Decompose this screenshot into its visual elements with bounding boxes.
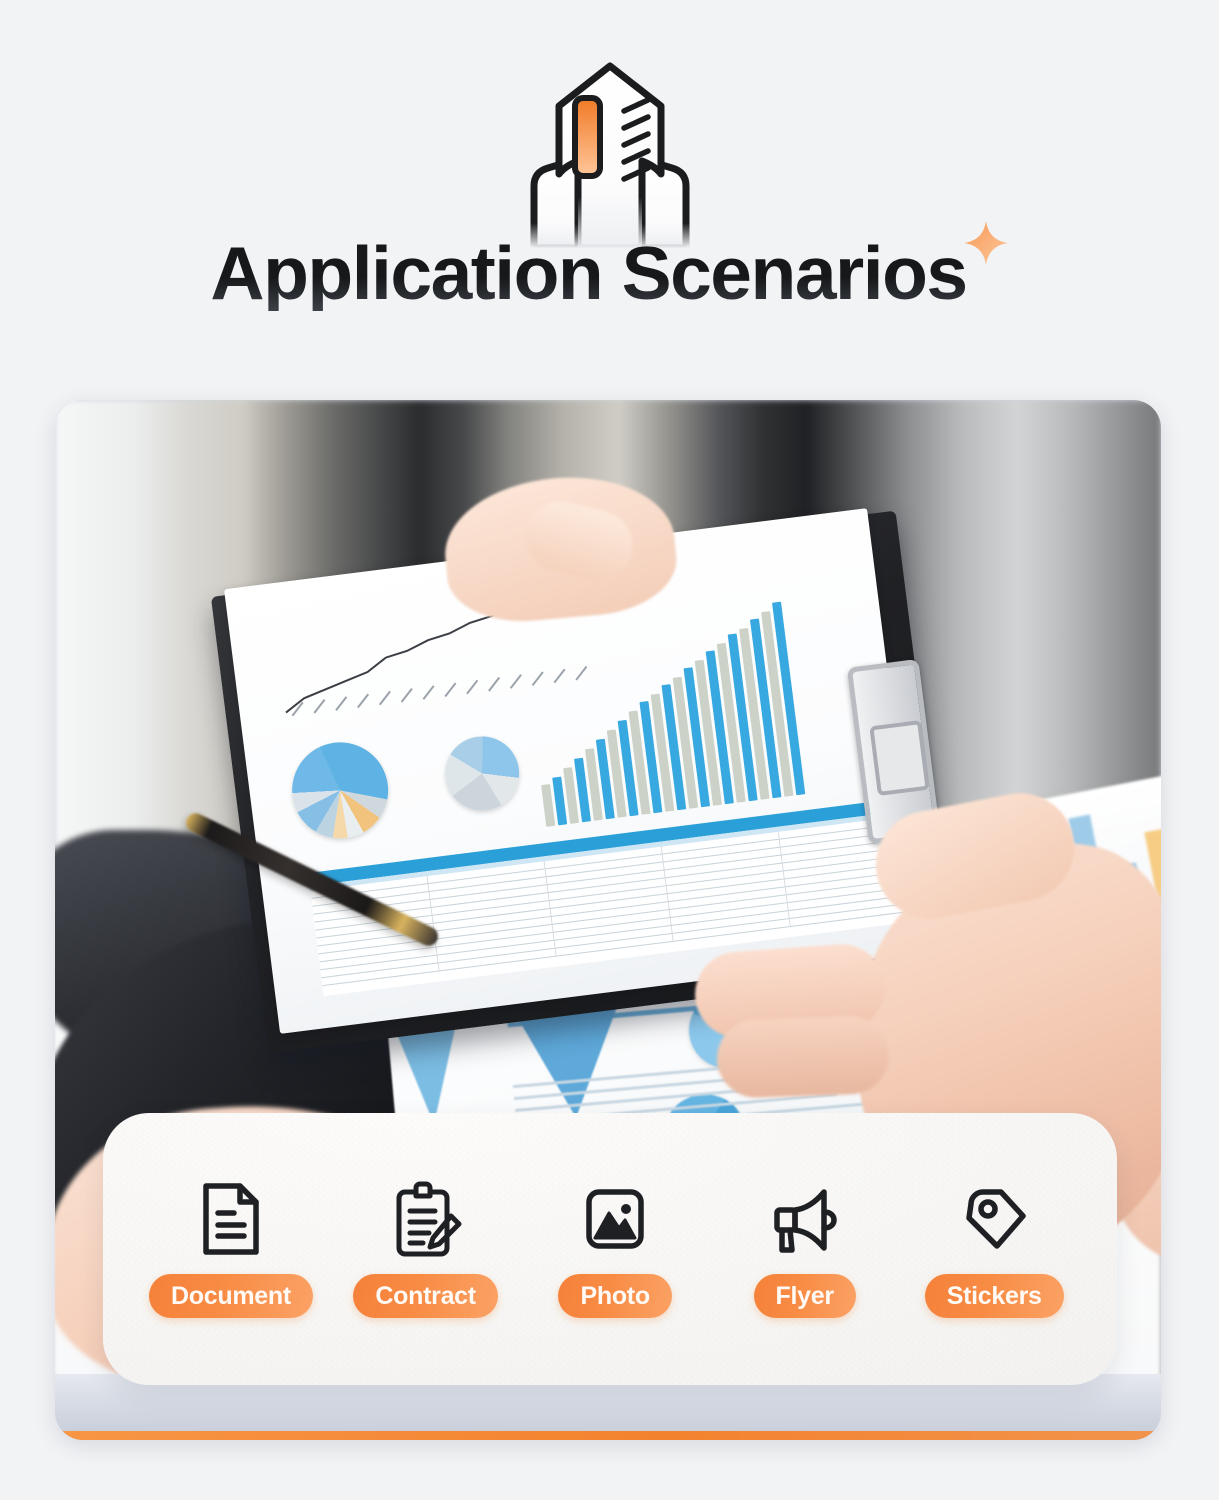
pie-chart-1 [287,737,394,844]
document-icon [194,1180,268,1258]
scenario-label: Flyer [754,1274,856,1318]
report-triangle-small [396,1026,464,1127]
sparkle-icon [963,220,1009,266]
photo-accent-line [55,1431,1161,1440]
tag-icon [957,1180,1031,1258]
finger-middle [716,1015,891,1099]
scenario-list: Document Contract [103,1113,1117,1385]
scenario-stickers[interactable]: Stickers [917,1180,1071,1318]
scenario-label: Photo [558,1274,671,1318]
image-icon [578,1180,652,1258]
title-row: Application Scenarios [0,236,1219,311]
scenario-photo[interactable]: Photo [538,1180,692,1318]
megaphone-icon [768,1180,842,1258]
header-section: Application Scenarios [0,0,1219,392]
clipboard-pen-icon [389,1180,463,1258]
page-title: Application Scenarios [210,236,966,311]
scenario-label: Contract [353,1274,497,1318]
scenarios-card: Document Contract [103,1113,1117,1385]
scenario-label: Stickers [925,1274,1064,1318]
pie-chart-2 [441,732,524,815]
scenario-document[interactable]: Document [149,1180,313,1318]
scenario-label: Document [149,1274,313,1318]
scenario-contract[interactable]: Contract [349,1180,503,1318]
bar-chart [521,585,893,827]
scenario-flyer[interactable]: Flyer [728,1180,882,1318]
building-tower-icon [503,62,717,248]
